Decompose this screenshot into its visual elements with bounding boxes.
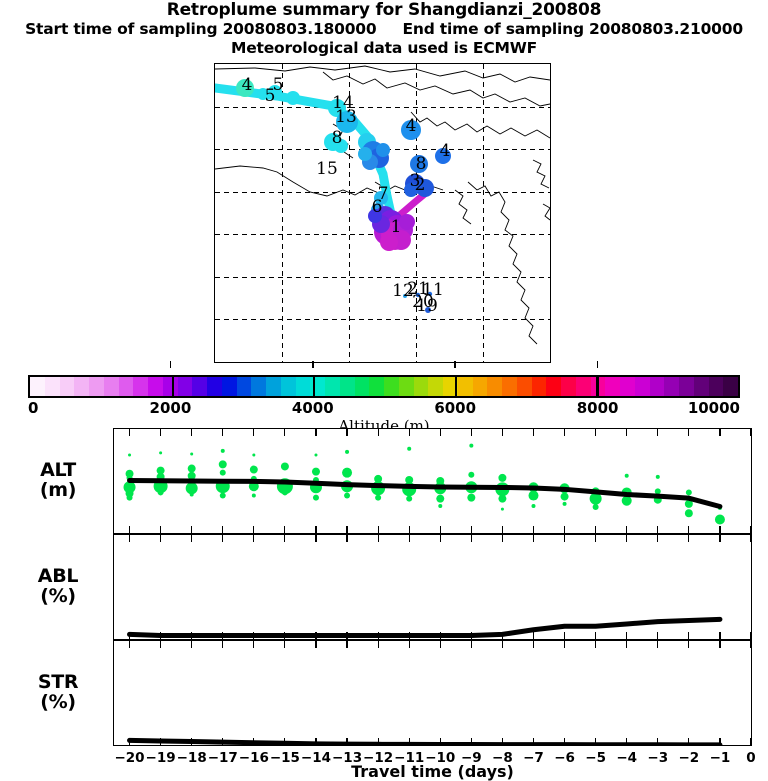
abl-label-line1: ABL xyxy=(8,566,108,586)
colorbar-cell-39 xyxy=(605,377,620,396)
colorbar-cell-20 xyxy=(325,377,340,396)
alt-bubble-61 xyxy=(561,493,569,501)
sampling-times: Start time of sampling 20080803.180000En… xyxy=(0,20,768,39)
abl-label-line2: (%) xyxy=(8,586,108,606)
alt-bubble-47 xyxy=(436,495,444,503)
colorbar-cell-30 xyxy=(473,377,488,396)
alt-bubble-33 xyxy=(313,495,319,501)
alt-bubble-55 xyxy=(498,495,506,503)
map-age-label-7: 4 xyxy=(440,141,451,161)
alt-bubble-16 xyxy=(221,449,225,453)
plot-area-ABL xyxy=(114,535,751,639)
alt-bubble-68 xyxy=(622,496,632,506)
alt-bubble-6 xyxy=(159,451,162,454)
meteo-source-label: Meteorological data used is ECMWF xyxy=(0,39,768,57)
colorbar-cell-32 xyxy=(502,377,517,396)
map-graphics: 4551413484158327611221112019 xyxy=(215,64,550,362)
plume-blob-14 xyxy=(376,143,390,157)
map-age-label-14: 1 xyxy=(391,217,402,237)
colorbar-cell-25 xyxy=(399,377,414,396)
map-age-label-5: 4 xyxy=(406,116,417,136)
colorbar-cell-13 xyxy=(222,377,237,396)
str-row-label: STR (%) xyxy=(8,672,108,712)
map-age-label-11: 2 xyxy=(415,175,426,195)
colorbar-cell-27 xyxy=(428,377,443,396)
str-label-line1: STR xyxy=(8,672,108,692)
colorbar-tick-6000 xyxy=(454,361,456,368)
alt-bubble-53 xyxy=(498,474,506,482)
alt-row-label: ALT (m) xyxy=(8,460,108,500)
colorbar-cell-26 xyxy=(414,377,429,396)
map-age-label-4: 13 xyxy=(335,107,357,127)
colorbar-label-4000: 4000 xyxy=(292,399,334,417)
alt-bubble-14 xyxy=(186,482,198,494)
alt-bubble-21 xyxy=(252,454,255,457)
str-line xyxy=(130,740,720,745)
colorbar-label-10000: 10000 xyxy=(688,399,740,417)
colorbar-cell-43 xyxy=(664,377,679,396)
timeseries-block: ALT (m) ABL (%) STR (%) 0500010000 02040… xyxy=(0,424,768,768)
colorbar-divider-6000 xyxy=(455,377,457,396)
alt-bubble-17 xyxy=(219,460,227,468)
alt-bubble-12 xyxy=(188,465,196,473)
alt-bubble-22 xyxy=(250,466,258,474)
alt-bubble-11 xyxy=(190,452,193,455)
plume-blob-15 xyxy=(358,147,372,161)
alt-bubble-10 xyxy=(158,489,164,495)
abl-line xyxy=(130,619,720,635)
colorbar-cell-44 xyxy=(679,377,694,396)
map-age-label-2: 5 xyxy=(265,86,276,106)
plot-area-STR xyxy=(114,641,751,745)
alt-bubble-41 xyxy=(407,447,411,451)
map-age-label-0: 4 xyxy=(242,75,253,95)
colorbar-label-2000: 2000 xyxy=(150,399,192,417)
colorbar-cell-34 xyxy=(532,377,547,396)
colorbar-cell-2 xyxy=(60,377,75,396)
alt-bubble-50 xyxy=(468,472,474,478)
alt-bubble-15 xyxy=(190,493,194,497)
colorbar-cell-46 xyxy=(709,377,724,396)
alt-bubble-58 xyxy=(528,491,538,501)
map-age-label-6: 8 xyxy=(332,128,343,148)
colorbar-label-6000: 6000 xyxy=(434,399,476,417)
colorbar-cell-35 xyxy=(546,377,561,396)
retroplume-map[interactable]: 4551413484158327611221112019 xyxy=(214,63,551,363)
colorbar-cell-7 xyxy=(133,377,148,396)
alt-bubble-0 xyxy=(128,454,131,457)
map-age-label-13: 6 xyxy=(372,197,383,217)
alt-bubble-69 xyxy=(656,475,660,479)
colorbar-cell-36 xyxy=(561,377,576,396)
alt-bubble-26 xyxy=(281,462,289,470)
colorbar-cell-37 xyxy=(576,377,591,396)
x-axis-title: Travel time (days) xyxy=(113,762,752,781)
str-label-line2: (%) xyxy=(8,692,108,712)
title-block: Retroplume summary for Shangdianzi_20080… xyxy=(0,0,768,57)
end-time-label: End time of sampling 20080803.210000 xyxy=(402,20,742,38)
colorbar-cell-40 xyxy=(620,377,635,396)
colorbar-cell-10 xyxy=(178,377,193,396)
colorbar-cell-24 xyxy=(384,377,399,396)
colorbar-cell-23 xyxy=(369,377,384,396)
abl-panel[interactable]: 020406080 xyxy=(113,534,752,640)
colorbar-divider-2000 xyxy=(172,377,174,396)
alt-bubble-35 xyxy=(342,468,352,478)
colorbar-cell-4 xyxy=(89,377,104,396)
colorbar-label-0: 0 xyxy=(28,399,38,417)
alt-bubble-56 xyxy=(501,508,504,511)
colorbar-cell-16 xyxy=(266,377,281,396)
colorbar-strip xyxy=(28,375,740,398)
alt-bubble-52 xyxy=(467,494,475,502)
str-panel[interactable]: 020406080 xyxy=(113,640,752,746)
alt-bubble-34 xyxy=(345,450,349,454)
map-age-label-8: 15 xyxy=(316,159,338,179)
colorbar-label-8000: 8000 xyxy=(577,399,619,417)
alt-panel[interactable]: 0500010000 xyxy=(113,428,752,534)
colorbar-tick-labels: 0200040006000800010000 xyxy=(28,398,740,416)
colorbar-cell-45 xyxy=(694,377,709,396)
colorbar-cell-9 xyxy=(163,377,178,396)
alt-bubble-25 xyxy=(252,494,256,498)
colorbar-cell-31 xyxy=(487,377,502,396)
alt-bubble-49 xyxy=(469,444,473,448)
alt-label-line1: ALT xyxy=(8,460,108,480)
alt-bubble-20 xyxy=(220,493,226,499)
alt-bubble-28 xyxy=(282,489,288,495)
alt-bubble-5 xyxy=(127,495,133,501)
colorbar-cell-22 xyxy=(355,377,370,396)
colorbar-cell-42 xyxy=(650,377,665,396)
colorbar-tick-4000 xyxy=(312,361,314,368)
plot-area-ALT xyxy=(114,429,751,533)
colorbar-cell-21 xyxy=(340,377,355,396)
alt-bubble-65 xyxy=(593,504,599,510)
alt-bubble-72 xyxy=(686,489,692,495)
alt-bubble-29 xyxy=(314,454,317,457)
colorbar-cell-33 xyxy=(517,377,532,396)
colorbar-tick-8000 xyxy=(597,361,599,368)
plume-blob-2 xyxy=(286,91,300,105)
colorbar-cell-6 xyxy=(119,377,134,396)
alt-bubble-48 xyxy=(438,504,442,508)
alt-bubble-18 xyxy=(220,470,226,476)
alt-bubble-74 xyxy=(685,509,693,517)
colorbar-cell-12 xyxy=(207,377,222,396)
colorbar-cell-18 xyxy=(296,377,311,396)
alt-bubble-66 xyxy=(625,474,629,478)
colorbar-divider-8000 xyxy=(596,377,598,396)
map-age-label-19: 19 xyxy=(416,296,438,316)
alt-label-line2: (m) xyxy=(8,480,108,500)
colorbar-tick-2000 xyxy=(170,361,172,368)
abl-row-label: ABL (%) xyxy=(8,566,108,606)
alt-bubble-59 xyxy=(531,504,535,508)
colorbar-cell-14 xyxy=(237,377,252,396)
colorbar-cell-0 xyxy=(30,377,45,396)
colorbar-cell-17 xyxy=(281,377,296,396)
colorbar-cell-5 xyxy=(104,377,119,396)
alt-bubble-37 xyxy=(344,493,350,499)
colorbar-cell-1 xyxy=(45,377,60,396)
plume-trajectory xyxy=(215,88,427,224)
colorbar-cell-11 xyxy=(192,377,207,396)
colorbar-cell-8 xyxy=(148,377,163,396)
colorbar-divider-4000 xyxy=(313,377,315,396)
alt-bubble-44 xyxy=(406,496,412,502)
colorbar-cell-3 xyxy=(74,377,89,396)
alt-bubble-62 xyxy=(563,502,567,506)
alt-bubble-30 xyxy=(312,468,320,476)
colorbar-cell-47 xyxy=(723,377,738,396)
colorbar-cell-29 xyxy=(458,377,473,396)
start-time-label: Start time of sampling 20080803.180000 xyxy=(25,20,376,38)
alt-bubble-76 xyxy=(715,514,725,524)
colorbar-ticks xyxy=(28,368,740,375)
colorbar-cell-15 xyxy=(251,377,266,396)
colorbar-cell-41 xyxy=(635,377,650,396)
page-title: Retroplume summary for Shangdianzi_20080… xyxy=(0,0,768,20)
alt-bubble-40 xyxy=(375,495,381,501)
